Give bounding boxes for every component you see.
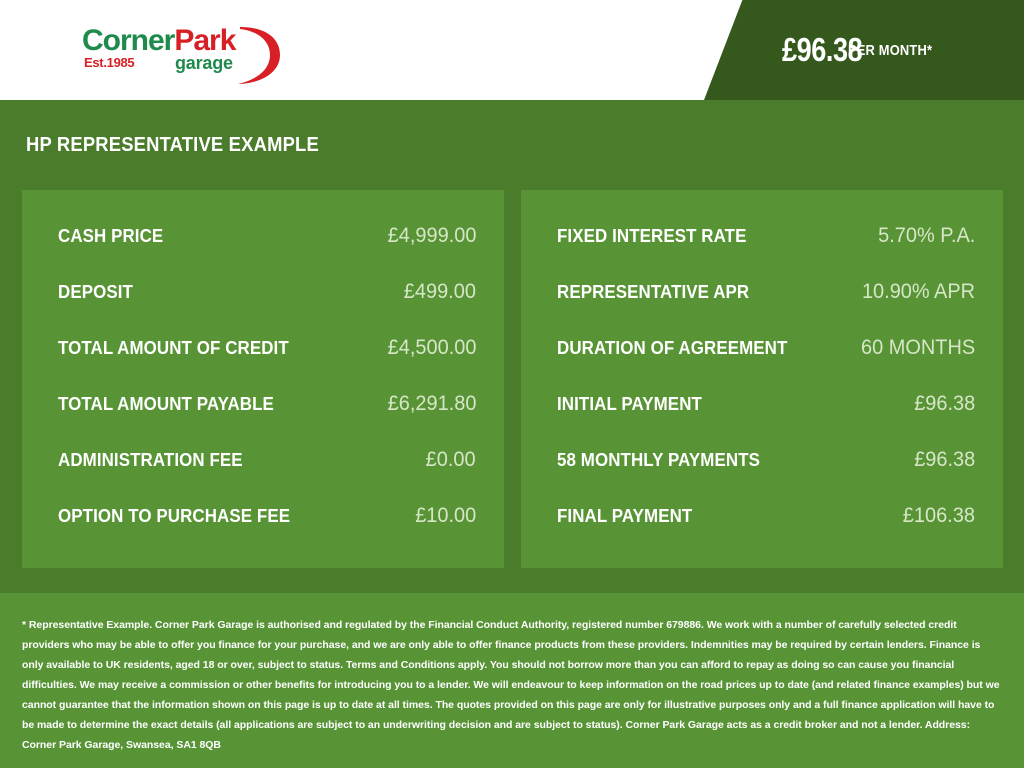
- finance-detail-row: DURATION OF AGREEMENT60 MONTHS: [557, 336, 975, 392]
- finance-detail-label: DEPOSIT: [58, 282, 133, 303]
- finance-detail-row: OPTION TO PURCHASE FEE£10.00: [58, 504, 476, 560]
- finance-detail-row: ADMINISTRATION FEE£0.00: [58, 448, 476, 504]
- finance-detail-value: 60 MONTHS: [861, 336, 975, 360]
- finance-detail-row: FIXED INTEREST RATE5.70% P.A.: [557, 224, 975, 280]
- logo-wordmark: CornerPark: [82, 26, 235, 56]
- finance-detail-label: TOTAL AMOUNT OF CREDIT: [58, 338, 289, 359]
- page-title: HP REPRESENTATIVE EXAMPLE: [26, 134, 319, 157]
- logo-established-text: Est.1985: [84, 56, 134, 69]
- finance-detail-value: £6,291.80: [387, 392, 476, 416]
- finance-detail-value: £106.38: [903, 504, 975, 528]
- finance-detail-label: CASH PRICE: [58, 226, 163, 247]
- page-header: CornerPark Est.1985 garage £96.38 PER MO…: [0, 0, 1024, 100]
- corner-park-garage-logo: CornerPark Est.1985 garage: [82, 24, 282, 84]
- finance-detail-value: 5.70% P.A.: [878, 224, 975, 248]
- finance-detail-row: TOTAL AMOUNT OF CREDIT£4,500.00: [58, 336, 476, 392]
- finance-detail-label: REPRESENTATIVE APR: [557, 282, 749, 303]
- finance-detail-label: INITIAL PAYMENT: [557, 394, 702, 415]
- finance-detail-label: FINAL PAYMENT: [557, 506, 692, 527]
- finance-detail-value: £0.00: [426, 448, 476, 472]
- finance-detail-label: 58 MONTHLY PAYMENTS: [557, 450, 760, 471]
- finance-detail-label: ADMINISTRATION FEE: [58, 450, 243, 471]
- finance-detail-row: DEPOSIT£499.00: [58, 280, 476, 336]
- finance-detail-row: INITIAL PAYMENT£96.38: [557, 392, 975, 448]
- page-footer: * Representative Example. Corner Park Ga…: [0, 593, 1024, 768]
- finance-detail-value: £499.00: [404, 280, 476, 304]
- finance-details-left-panel: CASH PRICE£4,999.00DEPOSIT£499.00TOTAL A…: [22, 190, 504, 568]
- finance-detail-label: FIXED INTEREST RATE: [557, 226, 746, 247]
- finance-detail-row: REPRESENTATIVE APR10.90% APR: [557, 280, 975, 336]
- finance-detail-row: TOTAL AMOUNT PAYABLE£6,291.80: [58, 392, 476, 448]
- finance-detail-row: FINAL PAYMENT£106.38: [557, 504, 975, 560]
- finance-detail-value: £10.00: [415, 504, 476, 528]
- logo-word-corner: Corner: [82, 24, 174, 57]
- finance-example-page: CornerPark Est.1985 garage £96.38 PER MO…: [0, 0, 1024, 768]
- finance-detail-label: OPTION TO PURCHASE FEE: [58, 506, 290, 527]
- finance-details-right-panel: FIXED INTEREST RATE5.70% P.A.REPRESENTAT…: [521, 190, 1003, 568]
- finance-detail-value: £4,999.00: [387, 224, 476, 248]
- finance-detail-label: TOTAL AMOUNT PAYABLE: [58, 394, 274, 415]
- disclaimer-text: * Representative Example. Corner Park Ga…: [22, 615, 1002, 755]
- finance-detail-row: 58 MONTHLY PAYMENTS£96.38: [557, 448, 975, 504]
- right-panel-rows: FIXED INTEREST RATE5.70% P.A.REPRESENTAT…: [557, 224, 975, 560]
- logo-word-garage: garage: [175, 54, 233, 72]
- monthly-price-period: PER MONTH*: [848, 42, 932, 59]
- finance-detail-label: DURATION OF AGREEMENT: [557, 338, 787, 359]
- finance-detail-value: £96.38: [914, 392, 975, 416]
- price-banner-content: £96.38 PER MONTH*: [704, 0, 1024, 100]
- finance-detail-value: £4,500.00: [387, 336, 476, 360]
- finance-detail-value: 10.90% APR: [862, 280, 975, 304]
- left-panel-rows: CASH PRICE£4,999.00DEPOSIT£499.00TOTAL A…: [58, 224, 476, 560]
- finance-detail-value: £96.38: [914, 448, 975, 472]
- finance-detail-row: CASH PRICE£4,999.00: [58, 224, 476, 280]
